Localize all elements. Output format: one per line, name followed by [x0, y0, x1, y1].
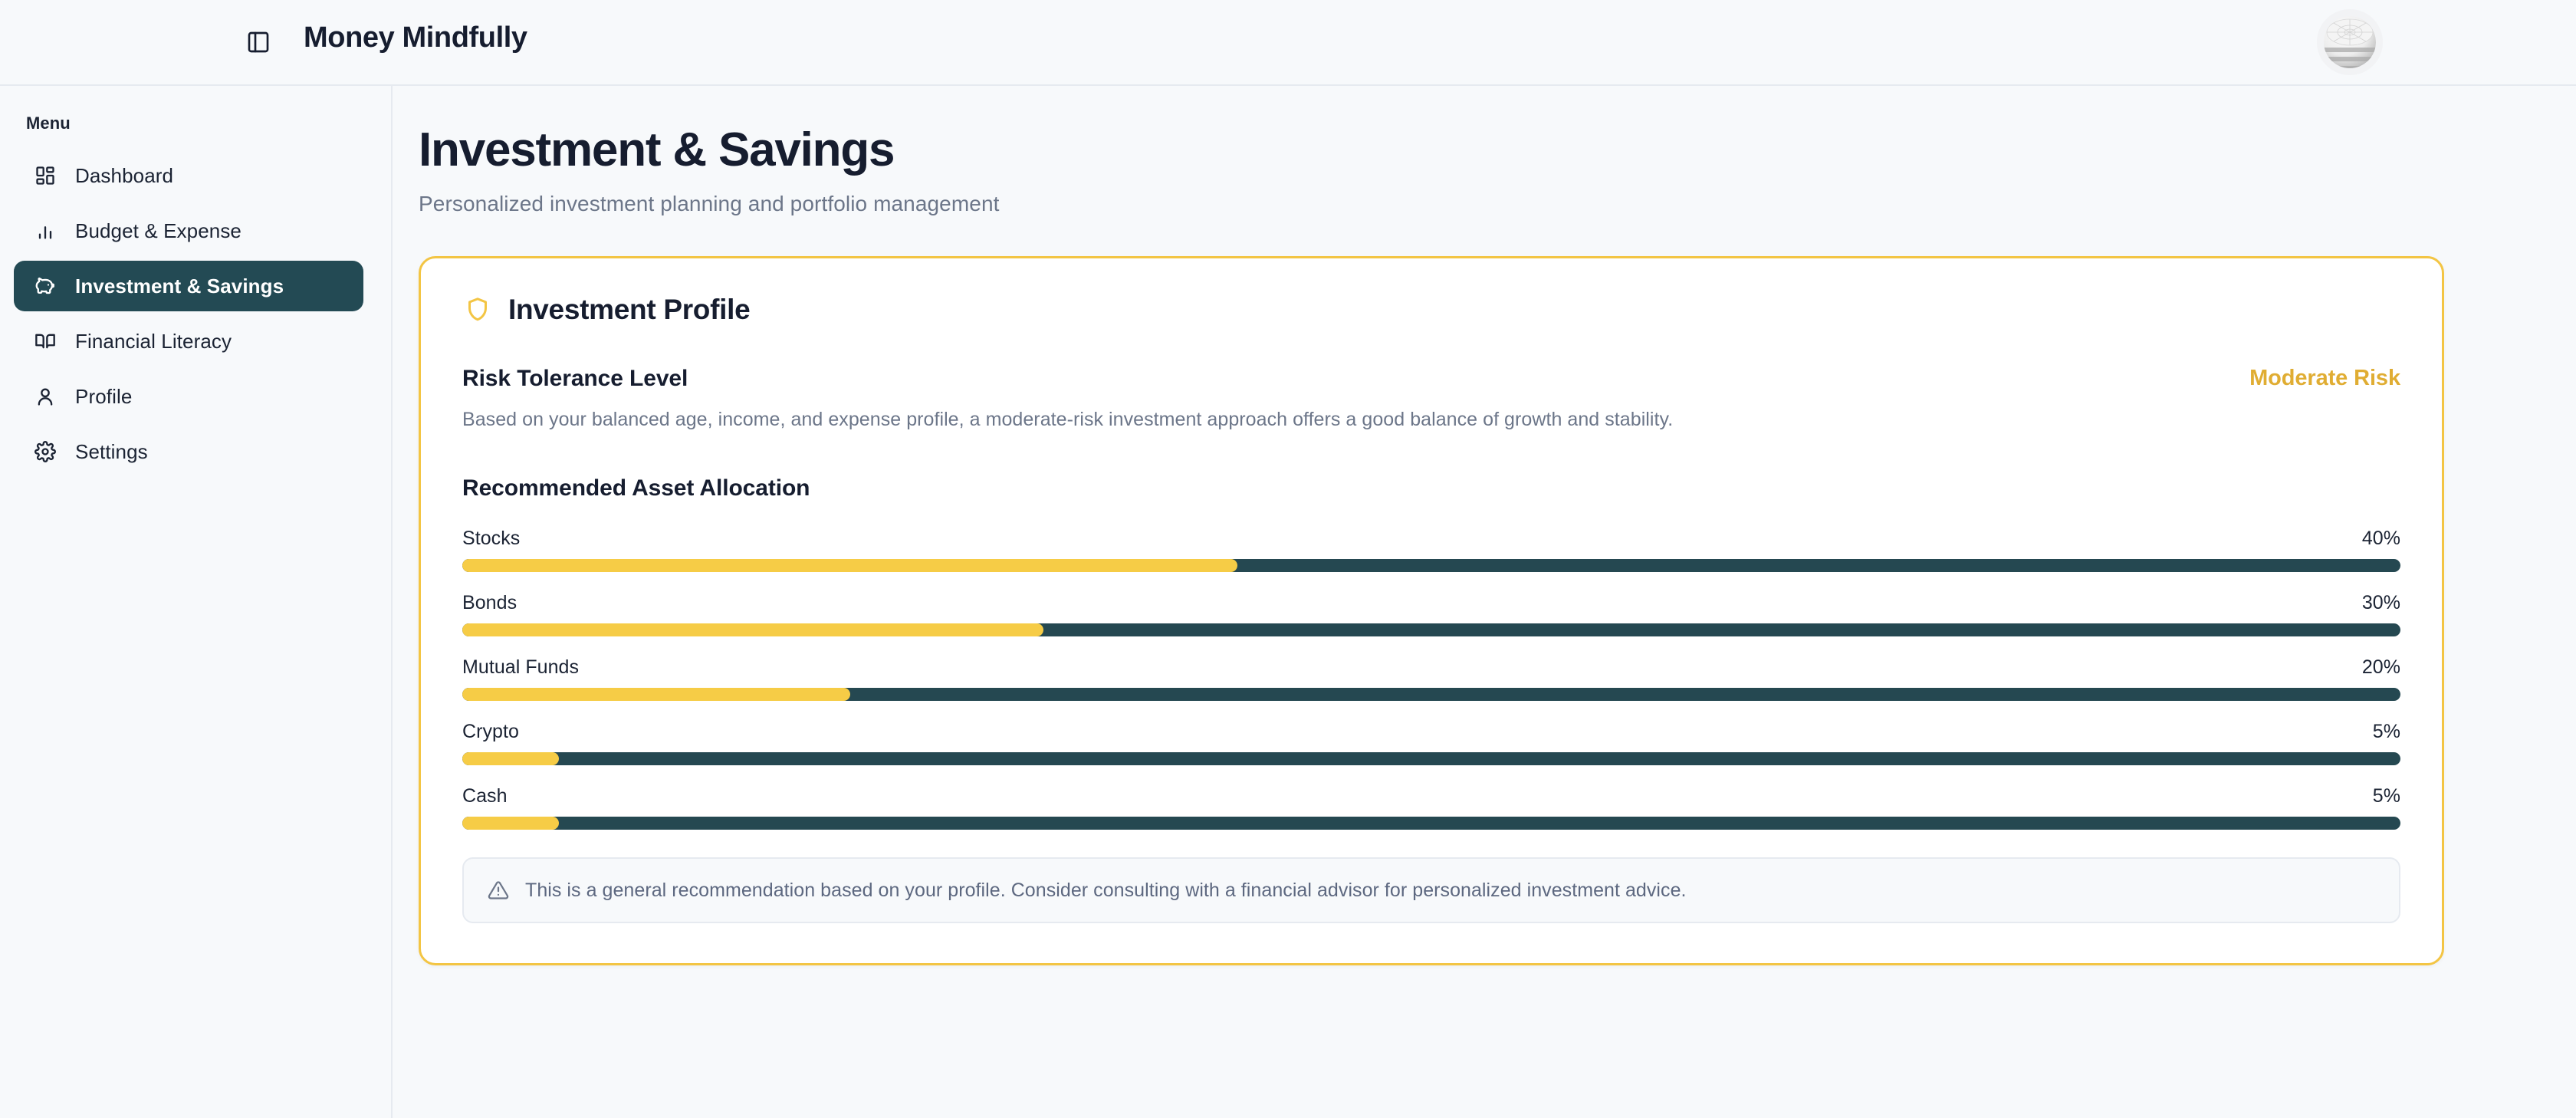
risk-level-badge: Moderate Risk — [2249, 366, 2400, 391]
sidebar: Menu Dashboard Budget & Expense Investme… — [0, 86, 393, 1118]
asset-allocation-bar-fill — [462, 817, 559, 830]
asset-name: Stocks — [462, 528, 520, 550]
sidebar-item-dashboard[interactable]: Dashboard — [14, 150, 363, 201]
sidebar-item-label: Budget & Expense — [75, 219, 242, 243]
shield-icon — [462, 294, 493, 325]
asset-allocation-row: Mutual Funds20% — [462, 656, 2400, 701]
asset-percent: 5% — [2373, 785, 2400, 807]
sidebar-item-label: Dashboard — [75, 164, 173, 188]
asset-allocation-labels: Bonds30% — [462, 592, 2400, 614]
asset-allocation-bar-fill — [462, 688, 850, 701]
book-open-icon — [32, 328, 58, 354]
sidebar-toggle-button[interactable] — [244, 29, 273, 58]
sidebar-item-label: Profile — [75, 385, 132, 409]
asset-allocation-bar-track — [462, 688, 2400, 701]
asset-percent: 40% — [2362, 528, 2400, 550]
alert-triangle-icon — [487, 879, 510, 902]
main-content: Investment & Savings Personalized invest… — [393, 86, 2576, 1118]
asset-name: Bonds — [462, 592, 517, 614]
sidebar-item-financial-literacy[interactable]: Financial Literacy — [14, 316, 363, 367]
sidebar-section-label: Menu — [26, 113, 391, 133]
gear-icon — [32, 439, 58, 465]
asset-allocation-labels: Cash5% — [462, 785, 2400, 807]
risk-tolerance-description: Based on your balanced age, income, and … — [462, 409, 2400, 431]
top-header-bar: Money Mindfully — [0, 0, 2576, 86]
asset-allocation-row: Stocks40% — [462, 528, 2400, 572]
asset-percent: 30% — [2362, 592, 2400, 614]
asset-allocation-bar-track — [462, 817, 2400, 830]
sidebar-item-budget-expense[interactable]: Budget & Expense — [14, 206, 363, 256]
asset-allocation-labels: Mutual Funds20% — [462, 656, 2400, 679]
asset-allocation-bar-track — [462, 623, 2400, 636]
page-title: Investment & Savings — [419, 124, 2444, 176]
asset-allocation-row: Cash5% — [462, 785, 2400, 830]
bar-chart-icon — [32, 218, 58, 244]
user-avatar-logo — [2317, 9, 2383, 75]
sidebar-item-label: Financial Literacy — [75, 330, 232, 353]
asset-name: Mutual Funds — [462, 656, 579, 679]
panel-left-icon — [246, 30, 271, 58]
asset-allocation-row: Bonds30% — [462, 592, 2400, 636]
asset-percent: 20% — [2362, 656, 2400, 679]
asset-percent: 5% — [2373, 721, 2400, 743]
card-title: Investment Profile — [508, 294, 750, 326]
asset-allocation-labels: Stocks40% — [462, 528, 2400, 550]
asset-allocation-list: Stocks40%Bonds30%Mutual Funds20%Crypto5%… — [462, 528, 2400, 830]
sidebar-item-label: Investment & Savings — [75, 275, 284, 298]
asset-name: Crypto — [462, 721, 519, 743]
disclaimer-note: This is a general recommendation based o… — [462, 857, 2400, 923]
card-header: Investment Profile — [462, 294, 2400, 326]
disclaimer-text: This is a general recommendation based o… — [525, 880, 1687, 902]
asset-allocation-bar-fill — [462, 623, 1043, 636]
investment-profile-card: Investment Profile Risk Tolerance Level … — [419, 256, 2444, 965]
asset-allocation-bar-fill — [462, 559, 1237, 572]
asset-allocation-bar-track — [462, 752, 2400, 765]
asset-allocation-heading: Recommended Asset Allocation — [462, 475, 2400, 501]
asset-allocation-row: Crypto5% — [462, 721, 2400, 765]
asset-allocation-labels: Crypto5% — [462, 721, 2400, 743]
risk-tolerance-row: Risk Tolerance Level Moderate Risk — [462, 366, 2400, 392]
sidebar-item-profile[interactable]: Profile — [14, 371, 363, 422]
asset-name: Cash — [462, 785, 508, 807]
piggy-bank-icon — [32, 273, 58, 299]
avatar[interactable] — [2317, 9, 2383, 75]
app-title: Money Mindfully — [304, 21, 527, 54]
sidebar-item-settings[interactable]: Settings — [14, 426, 363, 477]
page-subtitle: Personalized investment planning and por… — [419, 192, 2444, 216]
user-icon — [32, 383, 58, 409]
sidebar-item-investment-savings[interactable]: Investment & Savings — [14, 261, 363, 311]
asset-allocation-bar-fill — [462, 752, 559, 765]
layout-dashboard-icon — [32, 163, 58, 189]
risk-tolerance-heading: Risk Tolerance Level — [462, 366, 688, 392]
asset-allocation-bar-track — [462, 559, 2400, 572]
sidebar-item-label: Settings — [75, 440, 148, 464]
